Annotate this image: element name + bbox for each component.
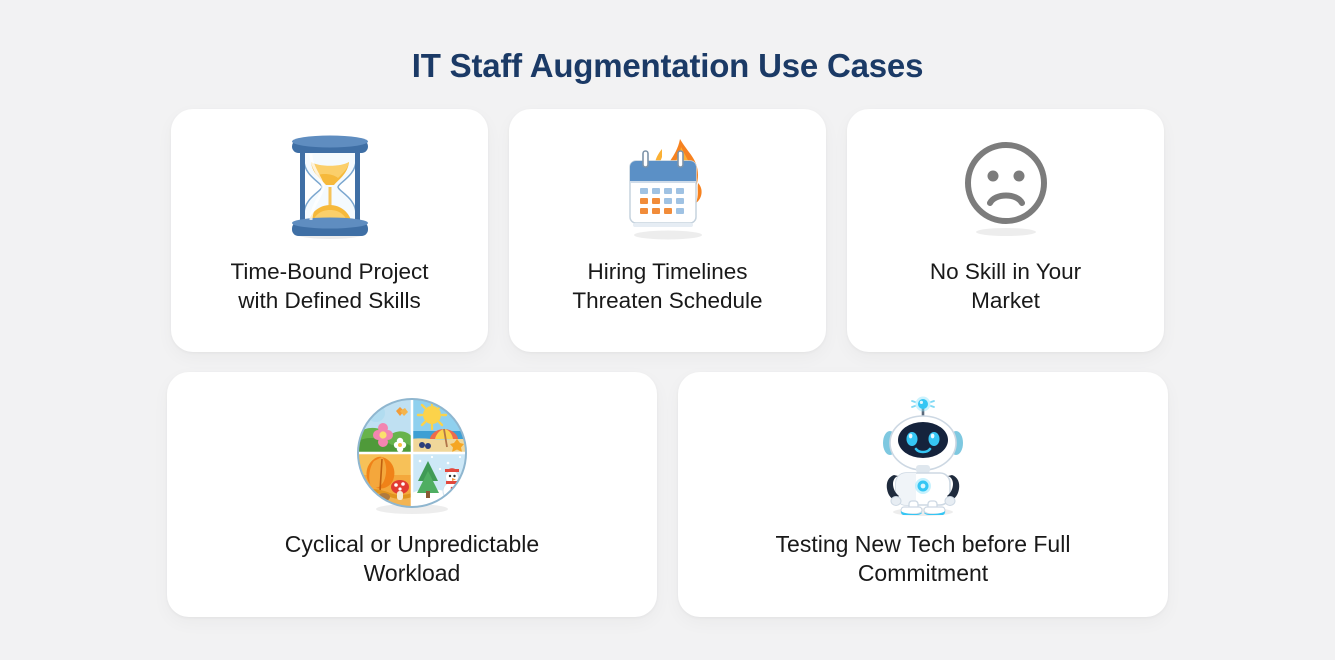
use-case-card-time-bound-project[interactable]: Time-Bound Project with Defined Skills (171, 109, 488, 352)
use-case-card-cyclical-workload[interactable]: Cyclical or Unpredictable Workload (167, 372, 657, 617)
use-case-card-hiring-timelines[interactable]: Hiring Timelines Threaten Schedule (509, 109, 826, 352)
use-case-label: No Skill in Your Market (916, 257, 1095, 315)
use-case-card-no-skill-in-market[interactable]: No Skill in Your Market (847, 109, 1164, 352)
use-case-label: Time-Bound Project with Defined Skills (217, 257, 443, 315)
page-title: IT Staff Augmentation Use Cases (0, 0, 1335, 86)
use-case-label: Hiring Timelines Threaten Schedule (558, 257, 776, 315)
use-case-row-one: Time-Bound Project with Defined Skills (165, 109, 1170, 352)
four-seasons-icon (350, 392, 474, 520)
robot-icon (861, 392, 985, 520)
use-case-label: Testing New Tech before Full Commitment (762, 530, 1085, 588)
use-case-label: Cyclical or Unpredictable Workload (271, 530, 553, 588)
use-case-card-testing-new-tech[interactable]: Testing New Tech before Full Commitment (678, 372, 1168, 617)
infographic-page: IT Staff Augmentation Use Cases (0, 0, 1335, 660)
sad-face-icon (951, 131, 1061, 243)
hourglass-icon (275, 131, 385, 243)
burning-calendar-icon (613, 131, 723, 243)
use-case-row-two: Cyclical or Unpredictable Workload (165, 372, 1170, 617)
use-case-grid: Time-Bound Project with Defined Skills (165, 86, 1170, 617)
